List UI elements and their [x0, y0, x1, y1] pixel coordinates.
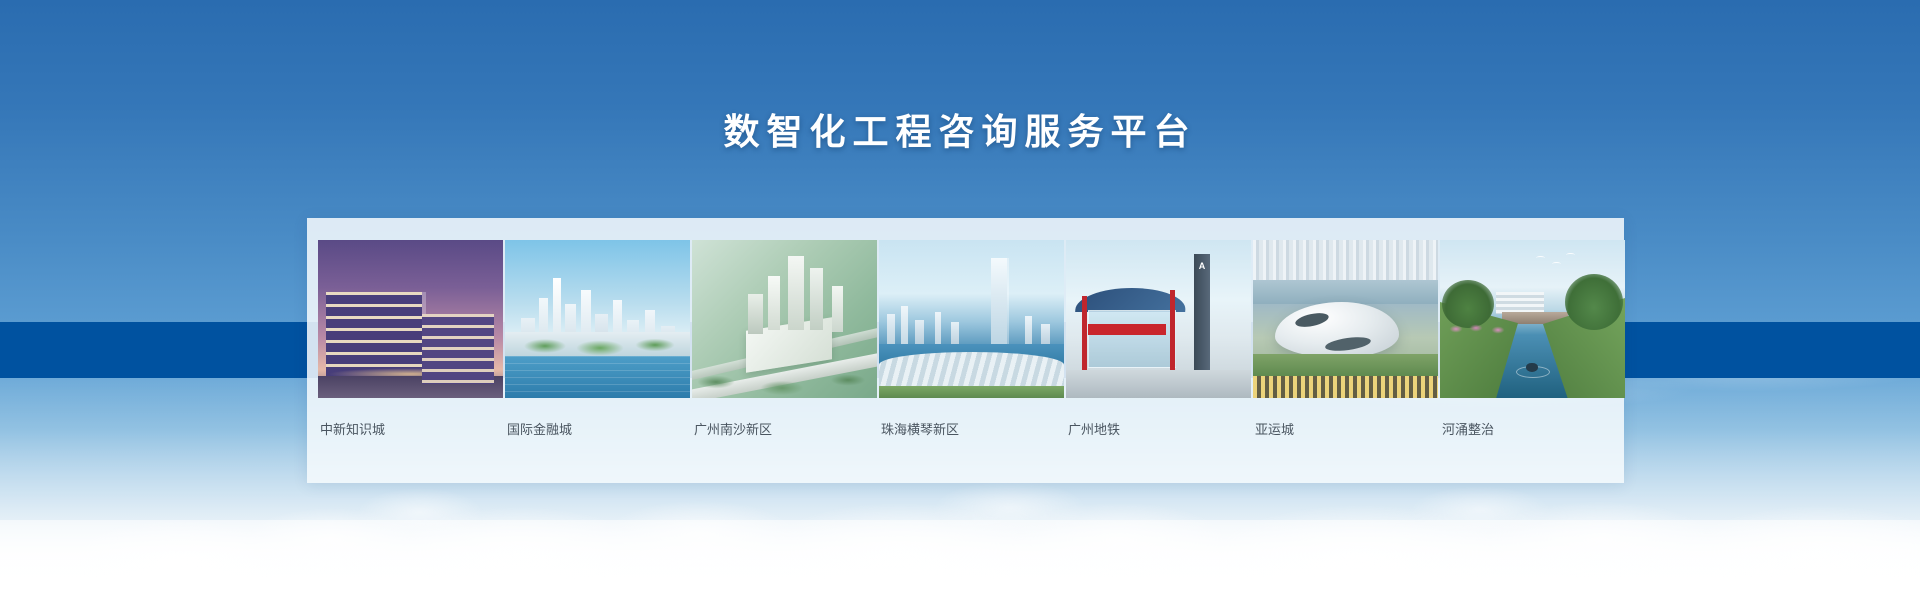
photo-red-frame-right — [1170, 290, 1175, 370]
project-card-hengqin-district[interactable]: 珠海横琴新区 — [879, 240, 1064, 438]
project-photo-knowledge-city — [318, 240, 503, 398]
photo-ground — [318, 376, 503, 398]
photo-bird — [1566, 253, 1575, 257]
photo-station-plaza — [1066, 370, 1251, 398]
project-label: 河涌整治 — [1440, 419, 1625, 438]
project-photo-river-restoration — [1440, 240, 1625, 398]
project-card-guangzhou-metro[interactable]: A 广州地铁 — [1066, 240, 1251, 438]
photo-glass-enclosure — [1088, 310, 1176, 368]
project-label: 中新知识城 — [318, 419, 503, 438]
photo-lawn — [879, 386, 1064, 398]
project-label: 国际金融城 — [505, 419, 690, 438]
photo-park-strip — [1253, 354, 1438, 376]
photo-residential-highrise — [1253, 240, 1438, 280]
photo-water — [505, 356, 690, 398]
project-label: 珠海横琴新区 — [879, 419, 1064, 438]
photo-right-tree — [1565, 274, 1623, 330]
project-label: 广州地铁 — [1066, 419, 1251, 438]
project-card-river-restoration[interactable]: 河涌整治 — [1440, 240, 1625, 438]
photo-bird — [1536, 256, 1545, 260]
project-photo-nansha-district — [692, 240, 877, 398]
hero-banner: 数智化工程咨询服务平台 中新知识城 国际金融城 — [0, 0, 1920, 600]
photo-riverside-building — [1496, 292, 1544, 314]
photo-flowering-shrubs — [1446, 322, 1512, 336]
photo-red-frame-left — [1082, 296, 1087, 370]
project-card-nansha-district[interactable]: 广州南沙新区 — [692, 240, 877, 438]
project-photo-guangzhou-metro: A — [1066, 240, 1251, 398]
photo-city-skyline — [879, 296, 1064, 348]
photo-lakeside-park — [505, 332, 690, 358]
project-label: 广州南沙新区 — [692, 419, 877, 438]
photo-exhibition-center — [879, 352, 1064, 390]
photo-boat — [1526, 363, 1538, 372]
photo-bird — [1552, 262, 1561, 266]
project-photo-asian-games-town — [1253, 240, 1438, 398]
project-card-knowledge-city[interactable]: 中新知识城 — [318, 240, 503, 438]
page-title: 数智化工程咨询服务平台 — [0, 103, 1920, 155]
photo-station-sign — [1088, 324, 1166, 335]
photo-left-tree — [1442, 280, 1494, 328]
photo-exit-letter: A — [1195, 260, 1209, 272]
photo-green-belt — [692, 358, 877, 398]
project-card-financial-city[interactable]: 国际金融城 — [505, 240, 690, 438]
project-card-asian-games-town[interactable]: 亚运城 — [1253, 240, 1438, 438]
project-label: 亚运城 — [1253, 419, 1438, 438]
photo-river — [1253, 280, 1438, 304]
photo-roadway — [1253, 376, 1438, 398]
project-photo-hengqin-district — [879, 240, 1064, 398]
cloud-base-layer — [0, 520, 1920, 600]
project-photo-financial-city — [505, 240, 690, 398]
project-gallery-strip: 中新知识城 国际金融城 广州南沙新区 — [318, 240, 1625, 438]
project-gallery-panel: 中新知识城 国际金融城 广州南沙新区 — [307, 218, 1624, 483]
